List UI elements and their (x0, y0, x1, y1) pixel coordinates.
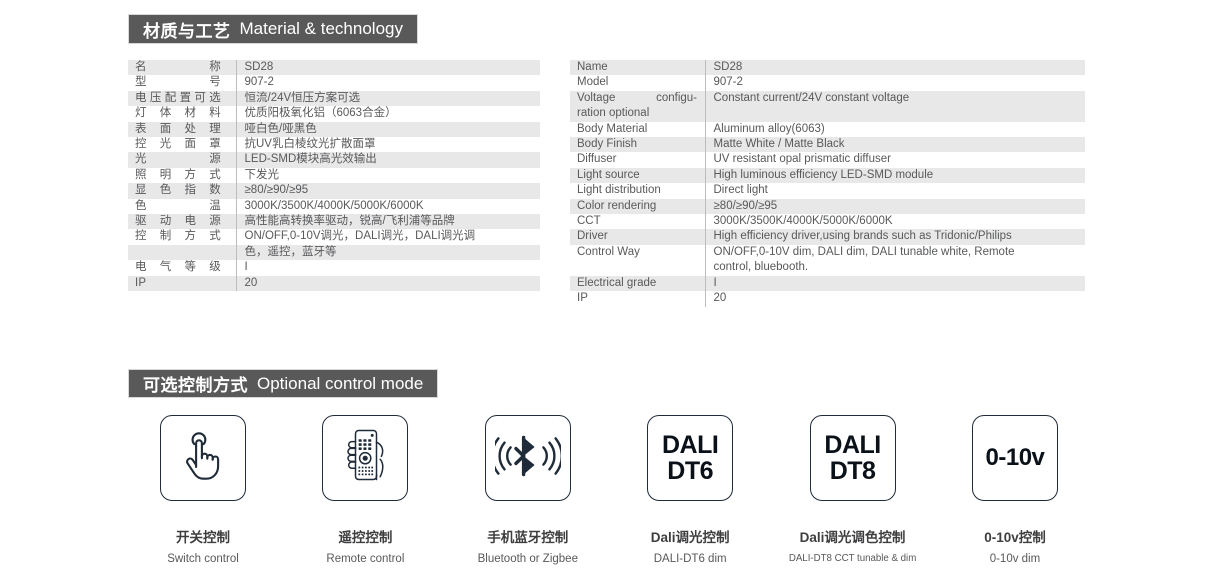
spec-value: SD28 (705, 60, 1085, 75)
spec-key: Driver (570, 229, 705, 244)
control-mode-item-remote[interactable]: 遥控控制 Remote control (290, 415, 440, 565)
section-header-control-mode: 可选控制方式 Optional control mode (128, 369, 438, 398)
spec-value: I (705, 276, 1085, 291)
spec-key (570, 260, 705, 275)
control-mode-card-dali-dt8[interactable]: DALI DT8 (810, 415, 896, 501)
control-mode-label-cn: 手机蓝牙控制 (487, 526, 568, 546)
spec-table-english: NameSD28 Model907-2 Voltage configu-Cons… (570, 60, 1085, 307)
spec-key: 电 气 等 级 (128, 260, 236, 275)
spec-key-text: 表 面 处 理 (135, 122, 221, 137)
spec-key: 控 光 面 罩 (128, 137, 236, 152)
spec-key-text: 控 光 面 罩 (135, 137, 221, 152)
section-header-material-en: Material & technology (240, 19, 403, 39)
spec-table-chinese-body: 名 称SD28 型号907-2 电压配置可选恒流/24V恒压方案可选 灯 体 材… (128, 60, 540, 291)
spec-value: LED-SMD模块高光效输出 (236, 152, 540, 167)
spec-value: ON/OFF,0-10V调光，DALI调光，DALI调光调 (236, 229, 540, 244)
control-mode-card-switch[interactable] (160, 415, 246, 501)
table-row: IP20 (128, 276, 540, 291)
touch-hand-icon (179, 430, 227, 487)
spec-key: 照明方式 (128, 168, 236, 183)
spec-value: I (236, 260, 540, 275)
spec-key: IP (128, 276, 236, 291)
table-row: 驱 动 电 源高性能高转换率驱动，锐高/飞利浦等品牌 (128, 214, 540, 229)
table-row: 电压配置可选恒流/24V恒压方案可选 (128, 91, 540, 106)
spec-key-text: IP (135, 276, 221, 291)
spec-key-text: 驱 动 电 源 (135, 214, 221, 229)
control-mode-label-en: Switch control (167, 553, 239, 565)
dali-dt8-text-icon: DALI DT8 (824, 432, 880, 485)
table-row: Body FinishMatte White / Matte Black (570, 137, 1085, 152)
spec-value: 20 (705, 291, 1085, 306)
spec-value: Matte White / Matte Black (705, 137, 1085, 152)
spec-value: High luminous efficiency LED-SMD module (705, 168, 1085, 183)
table-row: Model907-2 (570, 75, 1085, 90)
table-row: 名 称SD28 (128, 60, 540, 75)
control-mode-card-dali-dt6[interactable]: DALI DT6 (647, 415, 733, 501)
spec-value: 抗UV乳白棱纹光扩散面罩 (236, 137, 540, 152)
spec-key: Diffuser (570, 152, 705, 167)
table-row: Control WayON/OFF,0-10V dim, DALI dim, D… (570, 245, 1085, 260)
control-mode-label-en: Remote control (326, 553, 404, 565)
dali-dt6-text-icon: DALI DT6 (662, 432, 718, 485)
control-mode-label-cn: 遥控控制 (338, 526, 392, 546)
spec-key-text: 电 气 等 级 (135, 260, 221, 275)
spec-value: Aluminum alloy(6063) (705, 122, 1085, 137)
spec-key-text: 光 源 (135, 152, 221, 167)
remote-control-icon (337, 427, 393, 490)
spec-key: 灯 体 材 料 (128, 106, 236, 121)
control-mode-label-cn: Dali调光控制 (651, 526, 730, 546)
section-header-material: 材质与工艺 Material & technology (128, 14, 418, 44)
spec-value: 高性能高转换率驱动，锐高/飞利浦等品牌 (236, 214, 540, 229)
spec-key-text: 照明方式 (135, 168, 221, 183)
table-row: Light distributionDirect light (570, 183, 1085, 198)
spec-key-text: 显 色 指 数 (135, 183, 221, 198)
spec-value: 优质阳极氧化铝（6063合金） (236, 106, 540, 121)
spec-key: 显 色 指 数 (128, 183, 236, 198)
spec-value: ≥80/≥90/≥95 (236, 183, 540, 198)
spec-value: ≥80/≥90/≥95 (705, 199, 1085, 214)
table-row: Electrical gradeI (570, 276, 1085, 291)
spec-value: 907-2 (705, 75, 1085, 90)
control-mode-card-0-10v[interactable]: 0-10v (972, 415, 1058, 501)
control-mode-item-dali-dt8[interactable]: DALI DT8 Dali调光调色控制 DALI-DT8 CCT tunable… (778, 415, 928, 565)
spec-key: Body Material (570, 122, 705, 137)
spec-key: 控制方式 (128, 229, 236, 244)
table-row: control, bluebooth. (570, 260, 1085, 275)
spec-key-text: 名 称 (135, 60, 221, 75)
spec-value: 色，遥控，蓝牙等 (236, 245, 540, 260)
spec-table-english-body: NameSD28 Model907-2 Voltage configu-Cons… (570, 60, 1085, 307)
spec-key: Name (570, 60, 705, 75)
table-row: Voltage configu-Constant current/24V con… (570, 91, 1085, 106)
spec-key: 色 温 (128, 199, 236, 214)
table-row: Body MaterialAluminum alloy(6063) (570, 122, 1085, 137)
spec-key: ration optional (570, 106, 705, 121)
spec-key: 表 面 处 理 (128, 122, 236, 137)
spec-key: Color rendering (570, 199, 705, 214)
table-row: ration optional (570, 106, 1085, 121)
table-row: 照明方式下发光 (128, 168, 540, 183)
control-mode-label-cn: Dali调光调色控制 (800, 526, 906, 546)
spec-value: 下发光 (236, 168, 540, 183)
control-mode-item-dali-dt6[interactable]: DALI DT6 Dali调光控制 DALI-DT6 dim (615, 415, 765, 565)
spec-value: SD28 (236, 60, 540, 75)
table-row: 电 气 等 级I (128, 260, 540, 275)
spec-key: 电压配置可选 (128, 91, 236, 106)
spec-key-text: 色 温 (135, 199, 221, 214)
spec-key-text: Voltage configu- (577, 91, 697, 106)
table-row: 表 面 处 理哑白色/哑黑色 (128, 122, 540, 137)
spec-value: 20 (236, 276, 540, 291)
table-row: 控制方式ON/OFF,0-10V调光，DALI调光，DALI调光调 (128, 229, 540, 244)
spec-key-text: 灯 体 材 料 (135, 106, 221, 121)
table-row: Color rendering≥80/≥90/≥95 (570, 199, 1085, 214)
control-mode-label-cn: 0-10v控制 (984, 526, 1046, 546)
spec-value: Direct light (705, 183, 1085, 198)
control-mode-card-bluetooth[interactable] (485, 415, 571, 501)
control-mode-item-0-10v[interactable]: 0-10v 0-10v控制 0-10v dim (940, 415, 1090, 565)
table-row: Light sourceHigh luminous efficiency LED… (570, 168, 1085, 183)
control-mode-item-switch[interactable]: 开关控制 Switch control (128, 415, 278, 565)
spec-key: Light source (570, 168, 705, 183)
spec-value (705, 106, 1085, 121)
section-header-material-cn: 材质与工艺 (143, 17, 231, 42)
spec-key: Voltage configu- (570, 91, 705, 106)
section-header-control-en: Optional control mode (257, 374, 423, 394)
control-mode-label-en: DALI-DT8 CCT tunable & dim (789, 553, 916, 564)
spec-key: Electrical grade (570, 276, 705, 291)
spec-key-text: 电压配置可选 (135, 91, 221, 106)
spec-key: 名 称 (128, 60, 236, 75)
spec-key: CCT (570, 214, 705, 229)
table-row: NameSD28 (570, 60, 1085, 75)
spec-key: IP (570, 291, 705, 306)
control-mode-label-en: 0-10v dim (990, 553, 1041, 565)
spec-key-text: 型号 (135, 75, 221, 90)
spec-value: 恒流/24V恒压方案可选 (236, 91, 540, 106)
spec-value: High efficiency driver,using brands such… (705, 229, 1085, 244)
spec-key: Light distribution (570, 183, 705, 198)
zero-to-ten-volt-text-icon: 0-10v (986, 445, 1045, 470)
spec-key-text: 控制方式 (135, 229, 221, 244)
spec-key: 驱 动 电 源 (128, 214, 236, 229)
table-row: IP20 (570, 291, 1085, 306)
spec-key: Model (570, 75, 705, 90)
spec-value: Constant current/24V constant voltage (705, 91, 1085, 106)
spec-value: 3000K/3500K/4000K/5000K/6000K (705, 214, 1085, 229)
spec-value: ON/OFF,0-10V dim, DALI dim, DALI tunable… (705, 245, 1085, 260)
spec-key: 型号 (128, 75, 236, 90)
bluetooth-signal-icon (495, 433, 561, 484)
spec-value: 907-2 (236, 75, 540, 90)
spec-value: UV resistant opal prismatic diffuser (705, 152, 1085, 167)
table-row: 显 色 指 数≥80/≥90/≥95 (128, 183, 540, 198)
control-mode-label-cn: 开关控制 (176, 526, 230, 546)
section-header-control-cn: 可选控制方式 (143, 371, 248, 396)
spec-key (128, 245, 236, 260)
control-mode-card-remote[interactable] (322, 415, 408, 501)
table-row: CCT3000K/3500K/4000K/5000K/6000K (570, 214, 1085, 229)
control-mode-list: 开关控制 Switch control (128, 415, 1090, 565)
spec-table-chinese: 名 称SD28 型号907-2 电压配置可选恒流/24V恒压方案可选 灯 体 材… (128, 60, 540, 291)
table-row: 色，遥控，蓝牙等 (128, 245, 540, 260)
table-row: 型号907-2 (128, 75, 540, 90)
spec-key: Control Way (570, 245, 705, 260)
control-mode-item-bluetooth[interactable]: 手机蓝牙控制 Bluetooth or Zigbee (453, 415, 603, 565)
spec-key: 光 源 (128, 152, 236, 167)
control-mode-label-en: Bluetooth or Zigbee (478, 553, 578, 565)
spec-value: 3000K/3500K/4000K/5000K/6000K (236, 199, 540, 214)
table-row: DiffuserUV resistant opal prismatic diff… (570, 152, 1085, 167)
spec-key: Body Finish (570, 137, 705, 152)
table-row: 控 光 面 罩抗UV乳白棱纹光扩散面罩 (128, 137, 540, 152)
spec-value: 哑白色/哑黑色 (236, 122, 540, 137)
table-row: DriverHigh efficiency driver,using brand… (570, 229, 1085, 244)
table-row: 光 源LED-SMD模块高光效输出 (128, 152, 540, 167)
table-row: 色 温3000K/3500K/4000K/5000K/6000K (128, 199, 540, 214)
control-mode-label-en: DALI-DT6 dim (654, 553, 727, 565)
spec-value: control, bluebooth. (705, 260, 1085, 275)
table-row: 灯 体 材 料优质阳极氧化铝（6063合金） (128, 106, 540, 121)
